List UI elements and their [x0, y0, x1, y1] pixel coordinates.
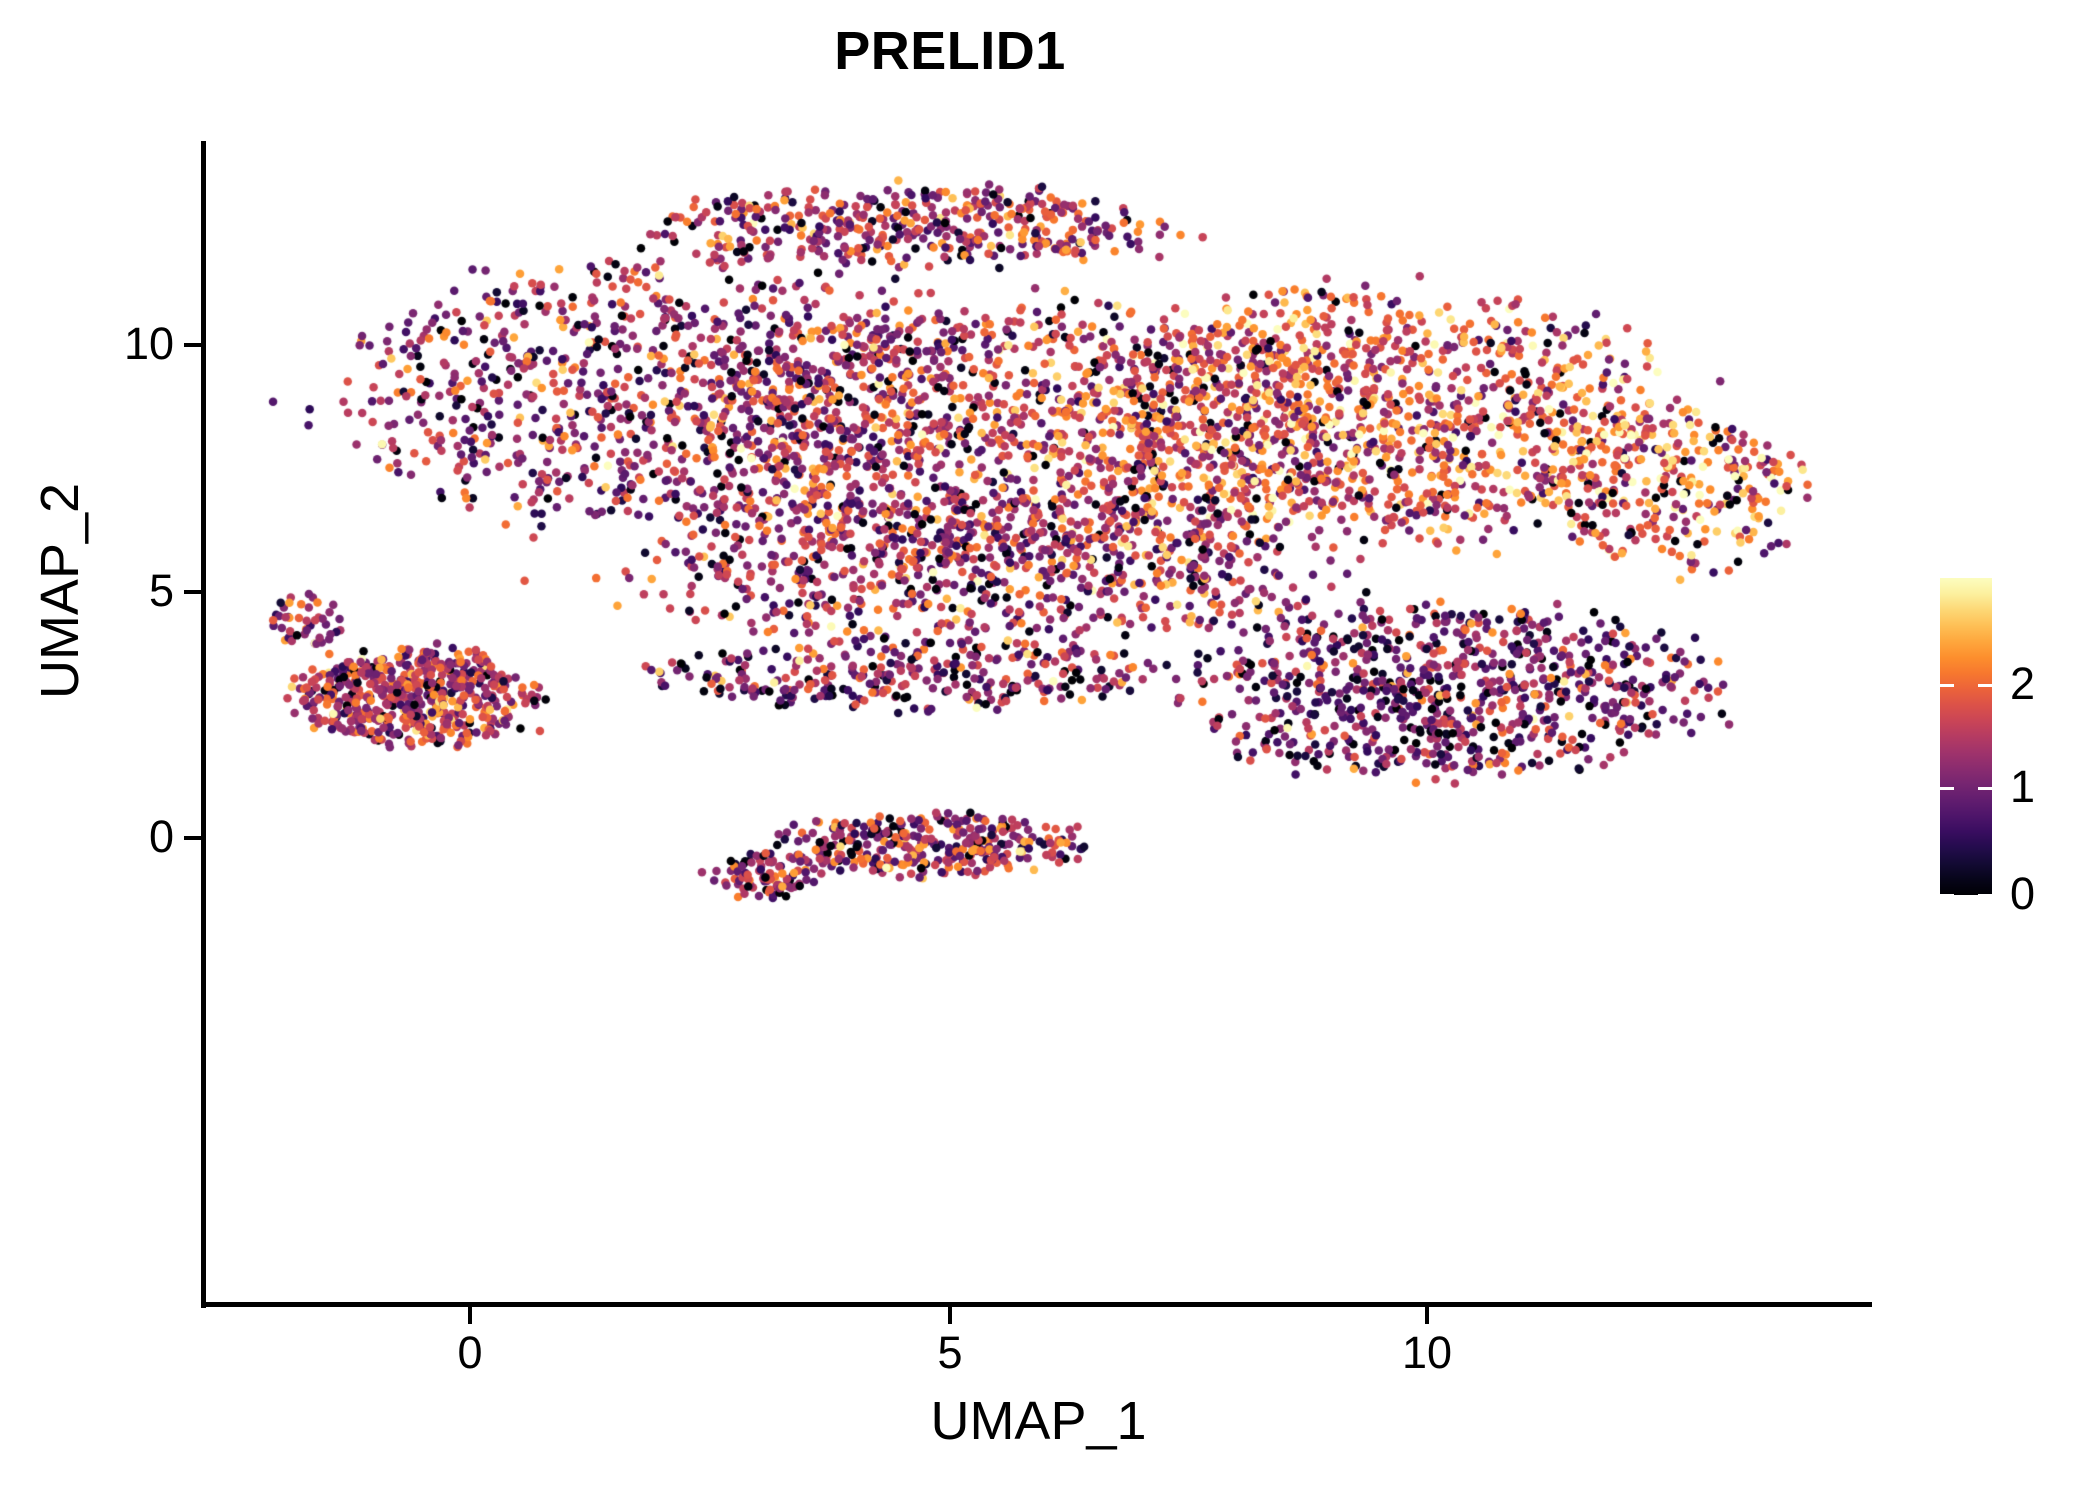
y-tick-label: 0: [54, 814, 174, 859]
y-tick-mark: [184, 343, 201, 347]
scatter-points-layer: [205, 141, 1872, 1305]
y-tick-mark: [184, 590, 201, 594]
y-axis-title: UMAP_2: [29, 381, 91, 801]
y-axis-line: [201, 141, 206, 1308]
x-axis-line: [201, 1302, 1872, 1307]
colorbar-tick-label: 0: [2010, 871, 2035, 916]
colorbar-tick-label: 2: [2010, 661, 2035, 706]
colorbar-tick-mark: [1940, 787, 1954, 790]
page-title: PRELID1: [0, 22, 1900, 81]
x-tick-label: 10: [1347, 1330, 1507, 1375]
colorbar-legend[interactable]: 210: [1940, 578, 1992, 895]
x-axis-title: UMAP_1: [205, 1390, 1872, 1452]
colorbar-tick-mark: [1978, 787, 1992, 790]
scatter-plot-panel[interactable]: [205, 141, 1872, 1305]
y-tick-label: 10: [54, 321, 174, 366]
x-tick-mark: [1425, 1307, 1429, 1324]
colorbar-gradient: [1940, 578, 1992, 895]
x-tick-mark: [468, 1307, 472, 1324]
x-tick-mark: [948, 1307, 952, 1324]
figure-root: PRELID1 1050 0510 UMAP_2 UMAP_1 210: [0, 0, 2100, 1500]
y-tick-mark: [184, 836, 201, 840]
colorbar-tick-mark: [1978, 684, 1992, 687]
x-tick-label: 0: [390, 1330, 550, 1375]
colorbar-tick-mark: [1940, 684, 1954, 687]
colorbar-tick-mark: [1940, 894, 1954, 897]
x-tick-label: 5: [870, 1330, 1030, 1375]
colorbar-tick-mark: [1978, 894, 1992, 897]
colorbar-tick-label: 1: [2010, 764, 2035, 809]
